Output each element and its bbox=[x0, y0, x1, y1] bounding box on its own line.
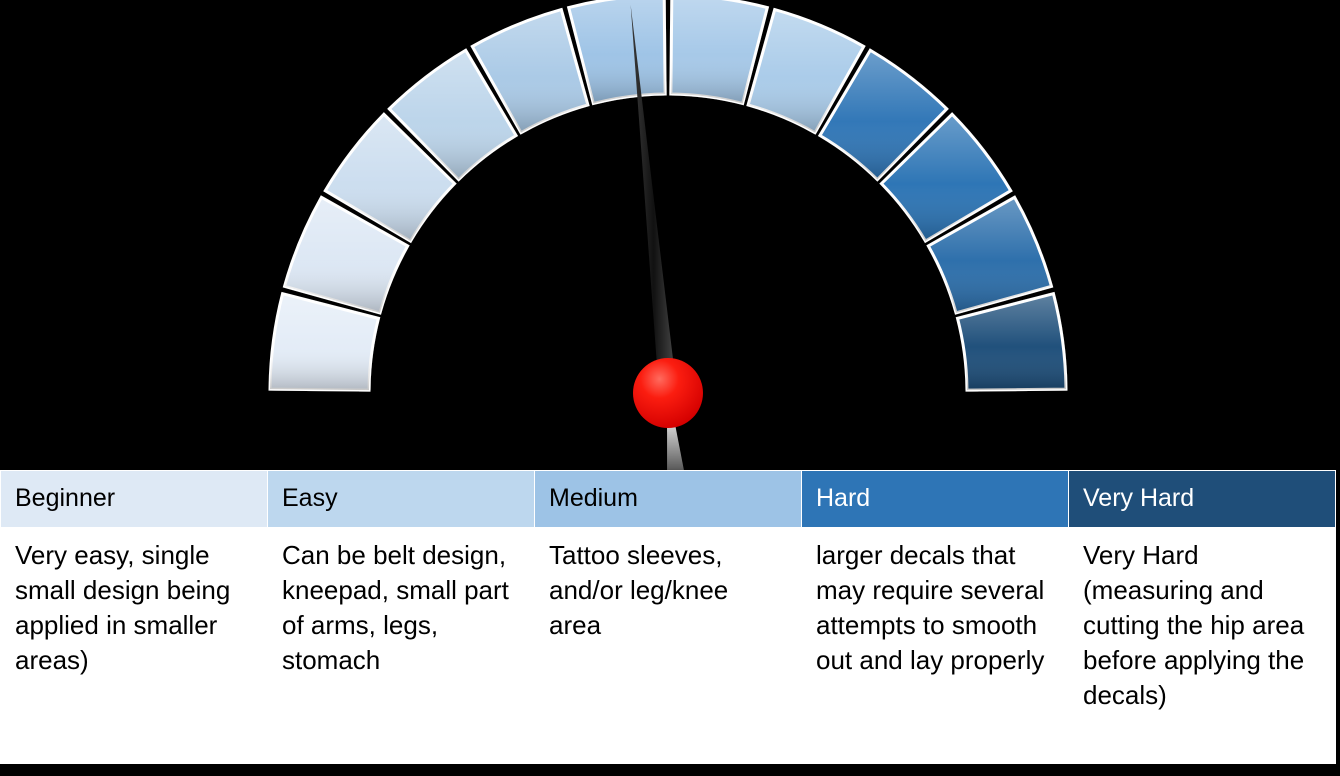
slide-canvas: Beginner Easy Medium Hard Very Hard Very… bbox=[0, 0, 1340, 776]
gauge-hub[interactable] bbox=[633, 358, 703, 428]
table-header-row: Beginner Easy Medium Hard Very Hard bbox=[1, 471, 1336, 528]
cell-medium-description: Tattoo sleeves, and/or leg/knee area bbox=[535, 528, 802, 764]
difficulty-gauge bbox=[0, 0, 1340, 480]
difficulty-legend-table: Beginner Easy Medium Hard Very Hard Very… bbox=[0, 470, 1336, 764]
column-header-very-hard[interactable]: Very Hard bbox=[1069, 471, 1336, 528]
column-header-hard[interactable]: Hard bbox=[802, 471, 1069, 528]
column-header-medium[interactable]: Medium bbox=[535, 471, 802, 528]
cell-very-hard-description: Very Hard (measuring and cutting the hip… bbox=[1069, 528, 1336, 764]
table-row: Very easy, single small design being app… bbox=[1, 528, 1336, 764]
cell-hard-description: larger decals that may require several a… bbox=[802, 528, 1069, 764]
cell-beginner-description: Very easy, single small design being app… bbox=[1, 528, 268, 764]
column-header-easy[interactable]: Easy bbox=[268, 471, 535, 528]
gauge-svg bbox=[0, 0, 1340, 480]
cell-easy-description: Can be belt design, kneepad, small part … bbox=[268, 528, 535, 764]
column-header-beginner[interactable]: Beginner bbox=[1, 471, 268, 528]
